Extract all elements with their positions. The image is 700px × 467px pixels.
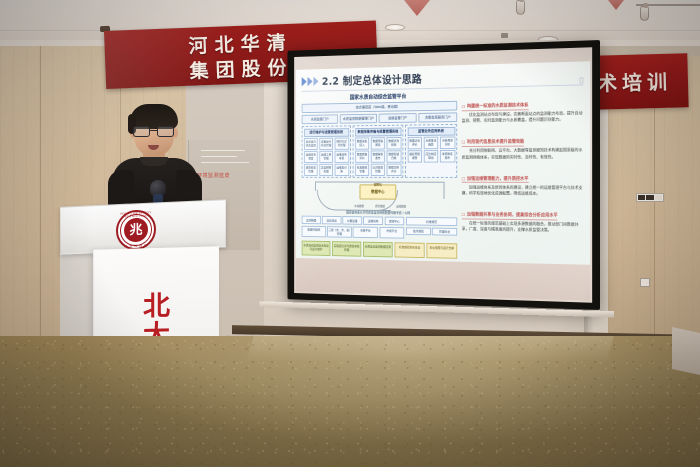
bottom-green-box: 水质自动监测数据应用 <box>363 242 393 257</box>
note-item: 加强数据共享与业务协同，提高综合分析应用水平 在统一标准的规范基础上实现多源数据… <box>462 203 584 234</box>
wall-switch-bank[interactable] <box>636 193 664 202</box>
track-light-icon <box>640 6 649 21</box>
group-cell: 断面达标评价 <box>407 137 422 149</box>
group-cell: 考核排名发布 <box>440 150 455 162</box>
slide-body: 国家水质自动综合监管平台 综合展现层（Web端、移动端） 水质监管门户 水质监测… <box>302 88 584 261</box>
podium-char: 北 <box>135 291 179 321</box>
portal-item: 水质监测数据管理门户 <box>340 114 377 124</box>
group-cells: 断面达标评价 水质变化趋势 污染溯源分析 超标预警报警 应急响应联动 考核排名发… <box>407 137 455 163</box>
diagram-subsystem-groups: 运行维护与运营管理系统 站点运行状态监控 设备运行状态管理 耗材与试剂管理 运维… <box>302 124 458 178</box>
subsystem-group: 监管业务应用系统 断面达标评价 水质变化趋势 污染溯源分析 超标预警报警 应急响… <box>405 124 457 178</box>
floor-light-reflection <box>246 336 613 362</box>
standards-row: 技术规范 管理办法 <box>406 227 457 236</box>
hub-label: 数据中心 <box>371 189 384 194</box>
diagram-lower-left: 监测断面 站房建设 仪器设备 运维机构 质控中心 数据传输网 三级（省、市、县）… <box>302 216 405 240</box>
group-cell: 数据清洗校验 <box>386 137 401 149</box>
group-cell: 异常预警处理 <box>319 164 333 176</box>
group-cell: 运维知识库 <box>335 164 349 176</box>
note-body: 加强运维体系及质控体系的建设，建立统一的运维管理平台与技术支撑，科学有效地优化资… <box>462 184 584 197</box>
slide-page-marker <box>579 77 583 83</box>
group-heading: 监管业务应用系统 <box>407 127 455 136</box>
lower-cell: 市级平台 <box>379 227 404 239</box>
architecture-diagram: 国家水质自动综合监管平台 综合展现层（Web端、移动端） 水质监管门户 水质监测… <box>302 91 458 258</box>
pku-science-park-logo: PEKING UNIVERSITY SCIENCE PARK 北 大 科 技 园… <box>116 209 156 251</box>
group-cell: 设备运行状态管理 <box>319 138 333 150</box>
group-cell: 运维任务调度 <box>304 151 318 163</box>
note-heading: 利用现代信息技术提升监管效能 <box>462 139 524 147</box>
group-cell: 质控核查管理 <box>304 164 318 176</box>
lower-cell: 仪器设备 <box>343 216 362 224</box>
ceiling-downlight-icon <box>385 24 405 31</box>
standards-heading: 标准规范 <box>406 217 457 226</box>
network-label: 国家级地表水环境质量监测网络数据传输专线 / 公网 <box>302 210 458 216</box>
lower-cell: 省级平台 <box>353 226 378 238</box>
lower-cell: 数据传输网 <box>302 225 326 237</box>
track-light-icon <box>516 0 525 15</box>
group-cells: 数据采集接入 数据传输通道 数据清洗校验 数据质量评价 数据审核发布 数据存储归… <box>355 137 401 175</box>
poster-line <box>201 156 237 157</box>
ceiling-decor-icon <box>404 0 430 16</box>
connector-line <box>444 182 445 199</box>
poster-line <box>201 150 245 151</box>
group-cell: 水质变化趋势 <box>423 137 438 149</box>
standards-cell: 管理办法 <box>432 227 457 236</box>
portal-item: 运维监管门户 <box>379 113 417 123</box>
poster-line <box>201 162 249 163</box>
right-floor-panel <box>672 327 700 375</box>
group-cell: 应急响应联动 <box>423 150 438 162</box>
flow-label: 质控数据 <box>375 205 385 209</box>
standards-cell: 技术规范 <box>406 227 431 236</box>
group-cell: 数据质量评价 <box>355 151 369 163</box>
group-cell: 数据传输通道 <box>371 138 386 150</box>
subsystem-group: 运行维护与运营管理系统 站点运行状态监控 设备运行状态管理 耗材与试剂管理 运维… <box>302 126 351 178</box>
group-cell: 污染溯源分析 <box>440 137 455 149</box>
bottom-green-box: 水质自动监测站点建设与运行维护 <box>302 241 331 256</box>
note-heading: 构建统一标准的水质监测技术体系 <box>462 102 529 110</box>
note-body: 在统一标准的规范基础上实现多源数据的融合，推动部门间数据共享，广度、深度与精准度… <box>462 220 584 234</box>
diagram-lower: 监测断面 站房建设 仪器设备 运维机构 质控中心 数据传输网 三级（省、市、县）… <box>302 216 458 241</box>
group-cell: 数据交换共享 <box>386 164 401 176</box>
data-center-hub: 国家站 数据中心 <box>360 185 397 200</box>
lower-cell: 运维机构 <box>363 217 383 226</box>
group-cell: 比对核查管理 <box>371 164 386 176</box>
slide-title: 2.2 制定总体设计思路 <box>322 71 422 89</box>
note-item: 构建统一标准的水质监测技术体系 优化监测站点布局与建设，完善断面站点的监测能力布… <box>462 92 584 124</box>
conference-room-photo: 环境监测蓝皮 河北华清 集团股份 技术培训 2.2 制定总体设计思路 <box>0 0 700 467</box>
portal-item: 水质监管门户 <box>302 115 338 125</box>
bottom-green-box: 实验室比对与质控考核管理 <box>332 241 361 256</box>
group-cells: 站点运行状态监控 设备运行状态管理 耗材与试剂管理 运维任务调度 运维工单管理 … <box>304 138 349 176</box>
flow-label: 水站数据 <box>354 204 364 208</box>
projection-screen: 2.2 制定总体设计思路 国家水质自动综合监管平台 综合展现层（Web端、移动端… <box>288 40 600 310</box>
lower-row: 监测断面 站房建设 仪器设备 运维机构 质控中心 <box>302 216 405 226</box>
screen-surface: 2.2 制定总体设计思路 国家水质自动综合监管平台 综合展现层（Web端、移动端… <box>294 47 592 302</box>
group-heading: 运行维护与运营管理系统 <box>304 128 349 137</box>
group-cell: 耗材与试剂管理 <box>335 138 349 150</box>
diagram-portal-row: 水质监管门户 水质监测数据管理门户 运维监管门户 决策会商服务门户 <box>302 113 458 125</box>
group-cell: 数据采集接入 <box>355 138 369 150</box>
presentation-slide: 2.2 制定总体设计思路 国家水质自动综合监管平台 综合展现层（Web端、移动端… <box>296 61 590 276</box>
note-item: 加强运维管理能力，提升质控水平 加强运维体系及质控体系的建设，建立统一的运维管理… <box>462 167 584 197</box>
ceiling-decor-icon <box>608 0 624 10</box>
flow-label: 运维数据 <box>396 205 406 209</box>
chevrons-right-icon <box>302 77 319 87</box>
diagram-hub-area: 国家站 数据中心 水站数据 质控数据 运维数据 国家级地表水环境质量监测网络数据… <box>302 181 458 216</box>
note-heading: 加强数据共享与业务协同，提高综合分析应用水平 <box>462 212 558 220</box>
logo-core-char: 兆 <box>129 223 142 237</box>
wall-outlet[interactable] <box>640 278 650 287</box>
lower-cell: 站房建设 <box>322 216 341 224</box>
group-cell: 标准规范管理 <box>355 164 369 176</box>
eyeglasses-icon <box>132 126 176 137</box>
group-cell: 数据存储归档 <box>386 151 401 163</box>
diagram-top-bar: 综合展现层（Web端、移动端） <box>302 101 458 113</box>
group-heading: 数据采集传输与质量管理系统 <box>355 127 401 136</box>
diagram-bottom-row: 水质自动监测站点建设与运行维护 实验室比对与质控考核管理 水质自动监测数据应用 … <box>302 241 458 259</box>
group-cell: 数据审核发布 <box>371 151 386 163</box>
bottom-yellow-box: 安全保障与运行支撑 <box>426 243 457 259</box>
subsystem-group: 数据采集传输与质量管理系统 数据采集接入 数据传输通道 数据清洗校验 数据质量评… <box>353 125 404 178</box>
lower-cell: 监测断面 <box>302 216 321 224</box>
note-heading: 加强运维管理能力，提升质控水平 <box>462 176 529 183</box>
note-body: 优化监测站点布局与建设，完善断面站点的监测能力布局，提升自动监测、预警、实时监测… <box>462 110 584 124</box>
slide-notes: 构建统一标准的水质监测技术体系 优化监测站点布局与建设，完善断面站点的监测能力布… <box>462 88 584 261</box>
lower-cell: 三级（省、市、县）管理 <box>327 226 352 238</box>
group-cell: 超标预警报警 <box>407 151 422 163</box>
lower-cell: 质控中心 <box>384 217 404 226</box>
note-item: 利用现代信息技术提升监管效能 充分利用物联网、云平台、大数据等监测感知技术构建起… <box>462 130 584 161</box>
portal-item: 决策会商服务门户 <box>418 113 457 123</box>
group-cell: 站点运行状态监控 <box>304 138 318 150</box>
ceiling-vent-icon <box>501 33 508 38</box>
hub-caption: 国家站 <box>374 183 382 187</box>
screen-lower-blank <box>296 258 590 301</box>
group-cell: 运维工单管理 <box>319 151 333 163</box>
diagram-lower-right: 标准规范 技术规范 管理办法 <box>406 217 457 241</box>
bottom-yellow-box: 标准规范体系建设 <box>394 242 424 258</box>
group-cell: 运维绩效考核 <box>335 151 349 163</box>
lower-row: 数据传输网 三级（省、市、县）管理 省级平台 市级平台 <box>302 225 405 239</box>
note-body: 充分利用物联网、云平台、大数据等监测感知技术构建起国家级的水质监测网络体系，实现… <box>462 147 584 160</box>
